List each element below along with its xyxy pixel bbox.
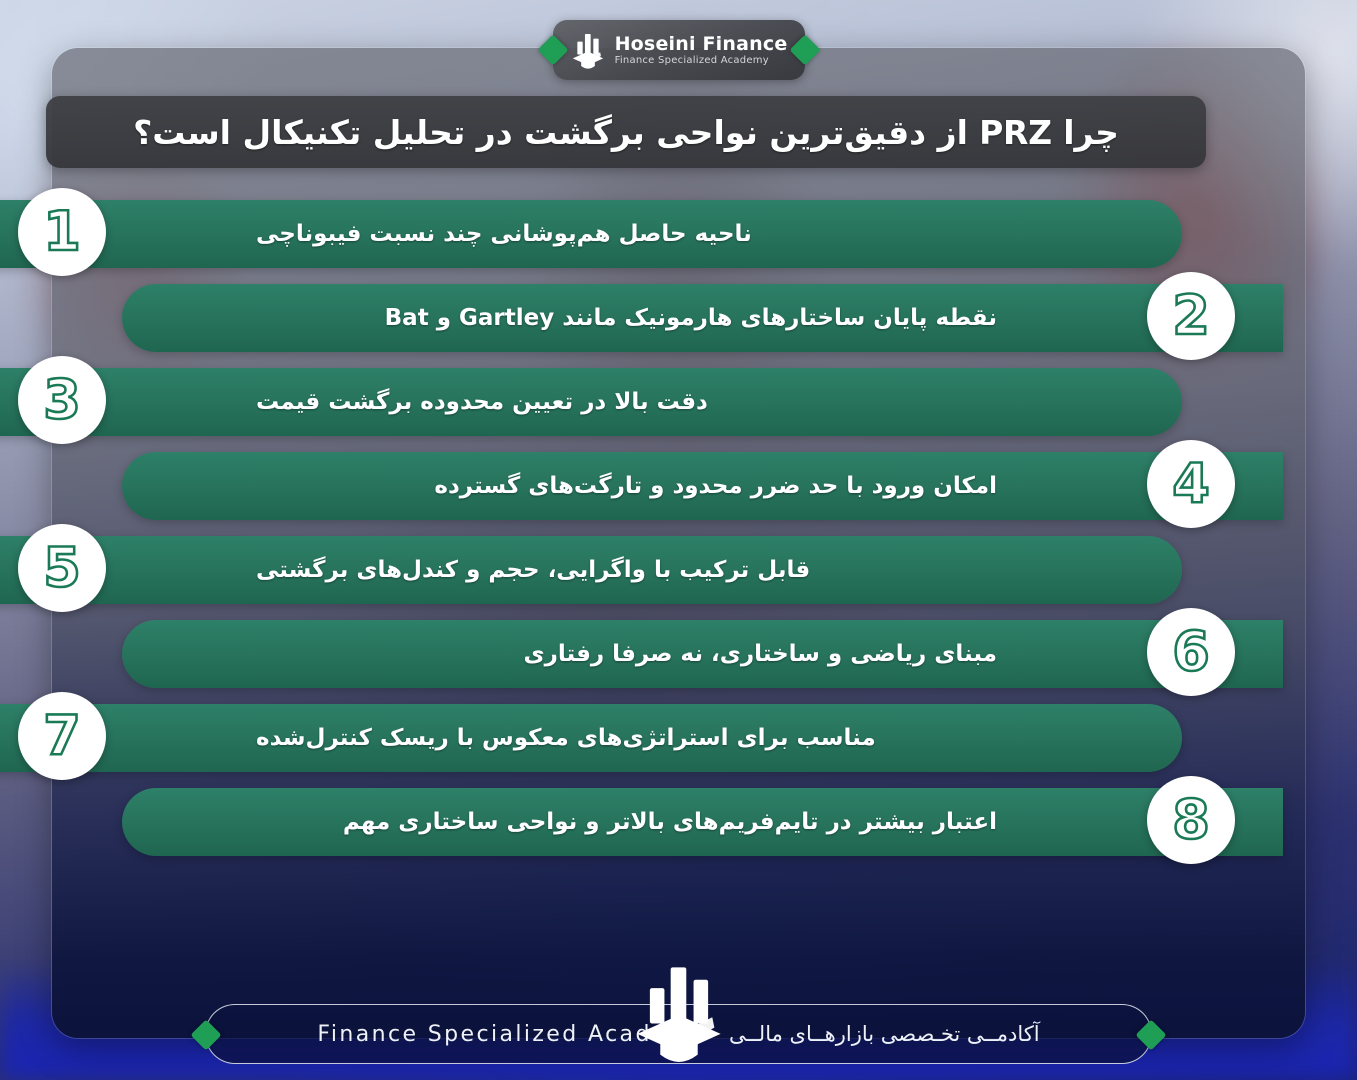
list-item-number: 1 [43, 205, 81, 259]
list-item: مناسب برای استراتژی‌های معکوس با ریسک کن… [0, 696, 1253, 780]
list-item-bar: امکان ورود با حد ضرر محدود و تارگت‌های گ… [122, 452, 1283, 520]
list-item-label: ناحیه حاصل هم‌پوشانی چند نسبت فیبوناچی [256, 221, 752, 247]
list-item-label: امکان ورود با حد ضرر محدود و تارگت‌های گ… [434, 473, 997, 499]
list-item: امکان ورود با حد ضرر محدود و تارگت‌های گ… [0, 444, 1253, 528]
list-item: مبنای ریاضی و ساختاری، نه صرفا رفتاری 6 [0, 612, 1253, 696]
list-item-number-badge: 3 [18, 356, 106, 444]
list-item: قابل ترکیب با واگرایی، حجم و کندل‌های بر… [0, 528, 1253, 612]
list-item: نقطه پایان ساختارهای هارمونیک مانند Gart… [0, 276, 1253, 360]
list-item: دقت بالا در تعیین محدوده برگشت قیمت 3 [0, 360, 1253, 444]
infographic-canvas: Hoseini Finance Finance Specialized Acad… [0, 0, 1357, 1080]
list-item-number-badge: 6 [1147, 608, 1235, 696]
brand-title: Hoseini Finance [615, 34, 788, 55]
page-title-bar: چرا PRZ از دقیق‌ترین نواحی برگشت در تحلی… [46, 96, 1206, 168]
list-item-number-badge: 4 [1147, 440, 1235, 528]
list-item-bar: ناحیه حاصل هم‌پوشانی چند نسبت فیبوناچی [0, 200, 1182, 268]
list-item: ناحیه حاصل هم‌پوشانی چند نسبت فیبوناچی 1 [0, 192, 1253, 276]
list-item-number: 7 [43, 709, 81, 763]
feature-list: ناحیه حاصل هم‌پوشانی چند نسبت فیبوناچی 1… [0, 192, 1253, 864]
list-item-number: 6 [1172, 625, 1210, 679]
grad-cap-bars-logo-icon [571, 31, 605, 69]
list-item-bar: قابل ترکیب با واگرایی، حجم و کندل‌های بر… [0, 536, 1182, 604]
list-item-label: اعتبار بیشتر در تایم‌فریم‌های بالاتر و ن… [343, 809, 997, 835]
brand-subtitle: Finance Specialized Academy [615, 55, 788, 66]
list-item-number-badge: 8 [1147, 776, 1235, 864]
list-item-number-badge: 1 [18, 188, 106, 276]
list-item: اعتبار بیشتر در تایم‌فریم‌های بالاتر و ن… [0, 780, 1253, 864]
list-item-number: 5 [43, 541, 81, 595]
list-item-number-badge: 7 [18, 692, 106, 780]
list-item-bar: اعتبار بیشتر در تایم‌فریم‌های بالاتر و ن… [122, 788, 1283, 856]
list-item-bar: مبنای ریاضی و ساختاری، نه صرفا رفتاری [122, 620, 1283, 688]
page-title: چرا PRZ از دقیق‌ترین نواحی برگشت در تحلی… [133, 113, 1119, 152]
list-item-label: دقت بالا در تعیین محدوده برگشت قیمت [256, 389, 708, 415]
list-item-number: 3 [43, 373, 81, 427]
list-item-number: 2 [1172, 289, 1210, 343]
list-item-label: مناسب برای استراتژی‌های معکوس با ریسک کن… [256, 725, 876, 751]
list-item-bar: نقطه پایان ساختارهای هارمونیک مانند Gart… [122, 284, 1283, 352]
footer-bar: آکادمــی تخـصصی بازارهــای مالــی Financ… [205, 1004, 1152, 1064]
list-item-label: مبنای ریاضی و ساختاری، نه صرفا رفتاری [524, 641, 997, 667]
footer-persian-label: آکادمــی تخـصصی بازارهــای مالــی [729, 1022, 1040, 1046]
list-item-label: قابل ترکیب با واگرایی، حجم و کندل‌های بر… [256, 557, 810, 583]
grad-cap-bars-logo-icon [631, 959, 727, 1063]
list-item-bar: مناسب برای استراتژی‌های معکوس با ریسک کن… [0, 704, 1182, 772]
brand-text-block: Hoseini Finance Finance Specialized Acad… [615, 34, 788, 66]
brand-header-pill: Hoseini Finance Finance Specialized Acad… [553, 20, 805, 80]
list-item-number-badge: 5 [18, 524, 106, 612]
footer-logo [631, 959, 727, 1063]
list-item-label: نقطه پایان ساختارهای هارمونیک مانند Gart… [385, 305, 997, 331]
list-item-bar: دقت بالا در تعیین محدوده برگشت قیمت [0, 368, 1182, 436]
list-item-number: 8 [1172, 793, 1210, 847]
list-item-number: 4 [1172, 457, 1210, 511]
list-item-number-badge: 2 [1147, 272, 1235, 360]
